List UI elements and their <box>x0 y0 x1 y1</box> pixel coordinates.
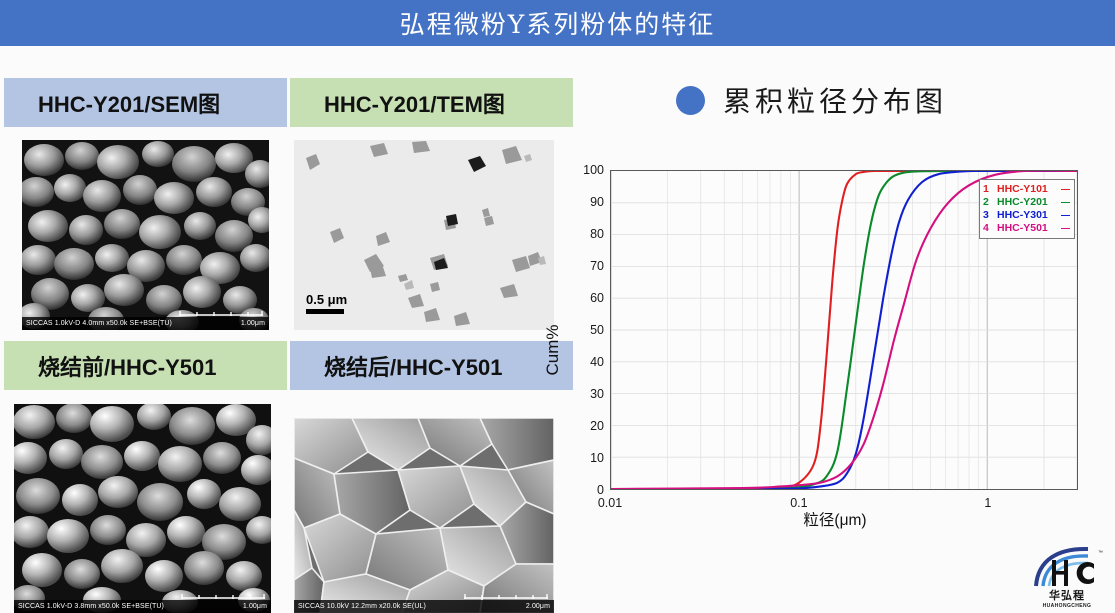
tem-y201-scale-label: 0.5 μm <box>306 292 347 307</box>
pre-y501-scale-label: 1.00μm <box>243 603 267 610</box>
sem-y201-caption-bar: SICCAS 1.0kV-D 4.0mm x50.0k SE+BSE(TU) 1… <box>22 317 269 330</box>
sem-y201-caption: SICCAS 1.0kV-D 4.0mm x50.0k SE+BSE(TU) <box>26 320 172 327</box>
y-axis-tick-label: 20 <box>575 419 604 433</box>
y-axis-tick-label: 50 <box>575 323 604 337</box>
panel-label-sem-y201: HHC-Y201/SEM图 <box>4 87 220 119</box>
company-logo: ™ 华弘程 HUAHONGCHENG <box>1028 546 1106 608</box>
legend-label: HHC-Y501 <box>997 222 1055 235</box>
legend-item[interactable]: 1HHC-Y101 <box>983 183 1070 196</box>
y-axis-tick-label: 100 <box>575 163 604 177</box>
x-axis-title: 粒径(μm) <box>803 508 866 530</box>
micrograph-sem-y201: SICCAS 1.0kV-D 4.0mm x50.0k SE+BSE(TU) 1… <box>22 140 269 330</box>
micrograph-pre-y501: SICCAS 1.0kV-D 3.8mm x50.0k SE+BSE(TU) 1… <box>14 404 271 613</box>
page-title: 弘程微粉Y系列粉体的特征 <box>0 0 1115 46</box>
y-axis-tick-label: 70 <box>575 259 604 273</box>
pre-y501-caption-bar: SICCAS 1.0kV-D 3.8mm x50.0k SE+BSE(TU) 1… <box>14 600 271 613</box>
post-y501-caption-bar: SICCAS 10.0kV 12.2mm x20.0k SE(UL) 2.00μ… <box>294 600 554 613</box>
panel-header-post-y501: 烧结后/HHC-Y501 <box>290 341 573 390</box>
y-axis-tick-label: 10 <box>575 451 604 465</box>
x-axis-tick-label: 0.01 <box>598 496 622 510</box>
chart-legend: 1HHC-Y1012HHC-Y2013HHC-Y3014HHC-Y501 <box>979 179 1075 239</box>
y-axis-tick-label: 60 <box>575 291 604 305</box>
x-axis-tick-label: 0.1 <box>790 496 807 510</box>
legend-item[interactable]: 4HHC-Y501 <box>983 222 1070 235</box>
legend-label: HHC-Y201 <box>997 196 1055 209</box>
legend-label: HHC-Y301 <box>997 209 1055 222</box>
legend-item[interactable]: 3HHC-Y301 <box>983 209 1070 222</box>
cumulative-distribution-chart: Cum% 1HHC-Y1012HHC-Y2013HHC-Y3014HHC-Y50… <box>575 160 1095 540</box>
svg-text:™: ™ <box>1098 550 1103 556</box>
y-axis-tick-label: 30 <box>575 387 604 401</box>
legend-line-swatch <box>1061 215 1070 216</box>
sem-y201-image <box>22 140 269 330</box>
pre-y501-caption: SICCAS 1.0kV-D 3.8mm x50.0k SE+BSE(TU) <box>18 603 164 610</box>
y-axis-tick-label: 40 <box>575 355 604 369</box>
pre-y501-image <box>14 404 271 613</box>
legend-line-swatch <box>1061 202 1070 203</box>
legend-line-swatch <box>1061 189 1070 190</box>
sem-y201-scale-ticks <box>179 311 263 316</box>
legend-line-swatch <box>1061 228 1070 229</box>
y-axis-tick-label: 80 <box>575 227 604 241</box>
legend-index: 2 <box>983 196 991 209</box>
plot-area: 1HHC-Y1012HHC-Y2013HHC-Y3014HHC-Y501 <box>610 170 1078 490</box>
panel-header-pre-y501: 烧结前/HHC-Y501 <box>4 341 287 390</box>
pre-y501-scale-ticks <box>181 594 265 599</box>
hhc-logo-icon: ™ <box>1028 546 1106 588</box>
legend-label: HHC-Y101 <box>997 183 1055 196</box>
micrograph-tem-y201: 0.5 μm <box>294 140 554 330</box>
legend-item[interactable]: 2HHC-Y201 <box>983 196 1070 209</box>
y-axis-tick-label: 90 <box>575 195 604 209</box>
panel-label-pre-y501: 烧结前/HHC-Y501 <box>4 350 216 382</box>
x-axis-tick-label: 1 <box>984 496 991 510</box>
legend-index: 3 <box>983 209 991 222</box>
post-y501-scale-label: 2.00μm <box>526 603 550 610</box>
chart-title: 累积粒径分布图 <box>676 80 947 120</box>
post-y501-scale-ticks <box>464 594 548 599</box>
panel-header-tem-y201: HHC-Y201/TEM图 <box>290 78 573 127</box>
legend-index: 1 <box>983 183 991 196</box>
y-axis-title: Cum% <box>543 324 563 375</box>
panel-label-tem-y201: HHC-Y201/TEM图 <box>290 87 505 119</box>
logo-text-cn: 华弘程 <box>1028 587 1106 603</box>
logo-text-en: HUAHONGCHENG <box>1028 603 1106 609</box>
y-axis-tick-label: 0 <box>575 483 604 497</box>
panel-label-post-y501: 烧结后/HHC-Y501 <box>290 350 502 382</box>
legend-index: 4 <box>983 222 991 235</box>
chart-title-text: 累积粒径分布图 <box>723 80 947 120</box>
bullet-icon <box>676 86 705 115</box>
panel-header-sem-y201: HHC-Y201/SEM图 <box>4 78 287 127</box>
tem-y201-scale-line <box>306 309 344 314</box>
sem-y201-scale-label: 1.00μm <box>241 320 265 327</box>
post-y501-image <box>294 418 554 613</box>
post-y501-caption: SICCAS 10.0kV 12.2mm x20.0k SE(UL) <box>298 603 426 610</box>
micrograph-post-y501: SICCAS 10.0kV 12.2mm x20.0k SE(UL) 2.00μ… <box>294 418 554 613</box>
tem-y201-scale-bar: 0.5 μm <box>306 292 347 314</box>
